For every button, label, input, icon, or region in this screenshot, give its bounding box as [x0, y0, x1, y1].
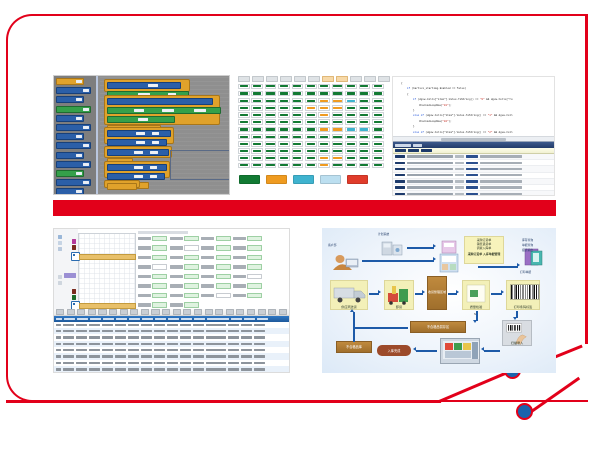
warehouse-location-cell[interactable] — [292, 119, 304, 125]
table-cell — [115, 330, 126, 332]
toolbar-button[interactable] — [268, 309, 276, 315]
warehouse-location-cell[interactable] — [359, 98, 371, 104]
toolbar-button[interactable] — [236, 309, 244, 315]
table-cell — [228, 368, 239, 370]
warehouse-location-cell[interactable] — [265, 127, 277, 133]
warehouse-location-cell[interactable] — [345, 112, 357, 118]
warehouse-location-status — [333, 157, 341, 159]
field-input[interactable] — [184, 245, 199, 251]
palette-block[interactable] — [56, 124, 91, 131]
warehouse-location-cell[interactable] — [278, 134, 290, 140]
warehouse-location-cell[interactable] — [372, 98, 384, 104]
warehouse-location-cell[interactable] — [359, 112, 371, 118]
field-input[interactable] — [152, 255, 167, 261]
warehouse-location-cell[interactable] — [305, 148, 317, 154]
warehouse-location-cell[interactable] — [305, 127, 317, 133]
warehouse-location-cell[interactable] — [251, 127, 263, 133]
warehouse-location-cell[interactable] — [359, 155, 371, 161]
field-input[interactable] — [152, 283, 167, 289]
palette-block[interactable] — [56, 142, 91, 149]
warehouse-location-cell[interactable] — [359, 84, 371, 90]
form-field[interactable] — [233, 236, 262, 242]
palette-block[interactable] — [56, 179, 91, 186]
toolbar-button[interactable] — [120, 309, 128, 315]
warehouse-location-cell[interactable] — [278, 155, 290, 161]
form-field[interactable] — [170, 245, 199, 251]
table-cell — [254, 368, 265, 370]
field-input[interactable] — [152, 274, 167, 280]
field-input[interactable] — [152, 245, 167, 251]
flow-node-truck: 供应商送货 — [330, 280, 368, 310]
form-field[interactable] — [233, 255, 262, 261]
toolbar-button[interactable] — [205, 309, 213, 315]
warehouse-location-cell[interactable] — [292, 155, 304, 161]
warehouse-location-cell[interactable] — [292, 141, 304, 147]
warehouse-location-cell[interactable] — [345, 155, 357, 161]
warehouse-location-cell[interactable] — [359, 105, 371, 111]
warehouse-location-cell[interactable] — [278, 112, 290, 118]
warehouse-location-cell[interactable] — [251, 84, 263, 90]
warehouse-location-cell[interactable] — [265, 163, 277, 169]
field-input[interactable] — [247, 293, 262, 299]
warehouse-location-cell[interactable] — [318, 98, 330, 104]
form-field[interactable] — [170, 264, 199, 270]
warehouse-location-cell[interactable] — [238, 112, 250, 118]
form-field[interactable] — [233, 274, 262, 280]
warehouse-location-cell[interactable] — [345, 134, 357, 140]
warehouse-location-cell[interactable] — [359, 127, 371, 133]
warehouse-location-cell[interactable] — [265, 148, 277, 154]
form-field[interactable] — [138, 293, 167, 299]
form-field[interactable] — [201, 255, 230, 261]
warehouse-location-cell[interactable] — [372, 119, 384, 125]
warehouse-column-header[interactable] — [238, 76, 250, 82]
block-group[interactable] — [104, 127, 174, 144]
toolbar-button[interactable] — [258, 309, 266, 315]
field-input[interactable] — [247, 264, 262, 270]
warehouse-location-cell[interactable] — [345, 91, 357, 97]
table-column-header[interactable] — [116, 318, 127, 320]
warehouse-location-cell[interactable] — [318, 91, 330, 97]
table-cell — [89, 336, 100, 338]
warehouse-location-cell[interactable] — [318, 119, 330, 125]
warehouse-location-cell[interactable] — [265, 119, 277, 125]
warehouse-column-header[interactable] — [350, 76, 362, 82]
table-row[interactable] — [54, 366, 289, 372]
field-input[interactable] — [216, 245, 231, 251]
warehouse-location-cell[interactable] — [292, 134, 304, 140]
warehouse-location-cell[interactable] — [292, 127, 304, 133]
warehouse-location-cell[interactable] — [372, 127, 384, 133]
table-column-header[interactable] — [244, 318, 255, 320]
form-field[interactable] — [233, 283, 262, 289]
form-field[interactable] — [201, 245, 230, 251]
warehouse-location-cell[interactable] — [292, 148, 304, 154]
warehouse-location-cell[interactable] — [251, 155, 263, 161]
warehouse-location-cell[interactable] — [345, 119, 357, 125]
field-input[interactable] — [216, 293, 231, 299]
toolbar-button[interactable] — [183, 309, 191, 315]
toolbar-button[interactable] — [56, 309, 64, 315]
warehouse-location-cell[interactable] — [251, 141, 263, 147]
warehouse-column-header[interactable] — [252, 76, 264, 82]
block-group[interactable] — [104, 180, 140, 188]
warehouse-column-header[interactable] — [294, 76, 306, 82]
form-field[interactable] — [233, 245, 262, 251]
toolbar-button[interactable] — [162, 309, 170, 315]
warehouse-location-status — [360, 107, 368, 109]
warehouse-column-header[interactable] — [336, 76, 348, 82]
scheduling-panel[interactable] — [53, 228, 290, 373]
warehouse-location-cell[interactable] — [345, 84, 357, 90]
warehouse-location-cell[interactable] — [318, 105, 330, 111]
warehouse-location-cell[interactable] — [345, 105, 357, 111]
toolbar-button[interactable] — [88, 309, 96, 315]
warehouse-location-cell[interactable] — [238, 141, 250, 147]
warehouse-location-cell[interactable] — [372, 112, 384, 118]
table-column-header[interactable] — [56, 318, 62, 320]
warehouse-location-cell[interactable] — [318, 112, 330, 118]
form-field[interactable] — [138, 274, 167, 280]
warehouse-location-cell[interactable] — [318, 148, 330, 154]
warehouse-location-cell[interactable] — [332, 105, 344, 111]
warehouse-location-cell[interactable] — [251, 105, 263, 111]
block-group[interactable] — [104, 146, 172, 158]
form-field[interactable] — [170, 283, 199, 289]
form-field[interactable] — [138, 264, 167, 270]
warehouse-location-cell[interactable] — [238, 134, 250, 140]
palette-block[interactable] — [56, 170, 84, 177]
warehouse-location-cell[interactable] — [278, 105, 290, 111]
palette-block[interactable] — [56, 106, 91, 113]
field-input[interactable] — [152, 302, 167, 308]
warehouse-location-cell[interactable] — [318, 163, 330, 169]
task-marker[interactable] — [72, 245, 76, 250]
field-input[interactable] — [216, 283, 231, 289]
warehouse-location-cell[interactable] — [305, 155, 317, 161]
code-editor-panel[interactable]: {if (bartxxx_startimg.Enabled == false){… — [392, 76, 555, 196]
warehouse-location-cell[interactable] — [359, 148, 371, 154]
warehouse-location-cell[interactable] — [265, 112, 277, 118]
field-label — [138, 237, 151, 240]
warehouse-location-cell[interactable] — [238, 105, 250, 111]
field-input[interactable] — [152, 236, 167, 242]
warehouse-location-cell[interactable] — [345, 163, 357, 169]
warehouse-location-cell[interactable] — [251, 119, 263, 125]
table-column-header[interactable] — [257, 318, 268, 320]
warehouse-location-status — [240, 150, 248, 152]
warehouse-location-cell[interactable] — [238, 98, 250, 104]
warehouse-location-cell[interactable] — [292, 91, 304, 97]
task-group-marker[interactable] — [64, 273, 76, 278]
task-marker[interactable] — [72, 289, 76, 294]
warehouse-location-cell[interactable] — [238, 91, 250, 97]
field-input[interactable] — [247, 274, 262, 280]
warehouse-location-cell[interactable] — [372, 91, 384, 97]
warehouse-grid-rows[interactable] — [238, 84, 390, 169]
table-column-header[interactable] — [194, 318, 205, 320]
warehouse-location-cell[interactable] — [251, 163, 263, 169]
table-cell — [63, 362, 74, 364]
warehouse-location-status — [266, 85, 274, 87]
toolbar-button[interactable] — [226, 309, 234, 315]
palette-block[interactable] — [56, 115, 84, 122]
warehouse-location-cell[interactable] — [238, 127, 250, 133]
form-field[interactable] — [201, 264, 230, 270]
block-group[interactable] — [104, 95, 220, 125]
warehouse-location-cell[interactable] — [359, 134, 371, 140]
task-marker[interactable] — [72, 295, 76, 300]
form-field[interactable] — [170, 293, 199, 299]
form-field[interactable] — [233, 293, 262, 299]
warehouse-location-cell[interactable] — [265, 105, 277, 111]
warehouse-location-cell[interactable] — [345, 148, 357, 154]
warehouse-column-header[interactable] — [378, 76, 390, 82]
warehouse-location-cell[interactable] — [332, 98, 344, 104]
warehouse-location-cell[interactable] — [305, 163, 317, 169]
field-input[interactable] — [247, 236, 262, 242]
warehouse-location-cell[interactable] — [238, 148, 250, 154]
table-column-header[interactable] — [231, 318, 242, 320]
form-field[interactable] — [138, 236, 167, 242]
field-input[interactable] — [184, 255, 199, 261]
field-input[interactable] — [216, 274, 231, 280]
palette-block[interactable] — [56, 87, 91, 94]
palette-block[interactable] — [56, 161, 91, 168]
field-input[interactable] — [247, 283, 262, 289]
warehouse-column-header[interactable] — [322, 76, 334, 82]
table-column-header[interactable] — [181, 318, 192, 320]
warehouse-location-status — [347, 136, 355, 138]
warehouse-location-cell[interactable] — [251, 112, 263, 118]
warehouse-location-cell[interactable] — [372, 134, 384, 140]
warehouse-location-cell[interactable] — [278, 127, 290, 133]
form-field[interactable] — [138, 255, 167, 261]
field-input[interactable] — [184, 264, 199, 270]
block-group[interactable] — [104, 161, 170, 178]
warehouse-location-cell[interactable] — [372, 148, 384, 154]
warehouse-location-cell[interactable] — [332, 91, 344, 97]
warehouse-location-cell[interactable] — [292, 112, 304, 118]
warehouse-location-cell[interactable] — [359, 119, 371, 125]
form-field[interactable] — [138, 245, 167, 251]
warehouse-location-cell[interactable] — [345, 98, 357, 104]
table-column-header[interactable] — [129, 318, 140, 320]
toolbar-button[interactable] — [194, 309, 202, 315]
warehouse-location-cell[interactable] — [265, 98, 277, 104]
warehouse-column-header[interactable] — [280, 76, 292, 82]
warehouse-location-status — [347, 150, 355, 152]
warehouse-location-cell[interactable] — [359, 163, 371, 169]
warehouse-location-cell[interactable] — [305, 84, 317, 90]
warehouse-location-cell[interactable] — [278, 141, 290, 147]
table-body[interactable] — [54, 322, 289, 373]
form-fields[interactable] — [138, 236, 287, 309]
warehouse-location-cell[interactable] — [265, 141, 277, 147]
warehouse-location-cell[interactable] — [251, 134, 263, 140]
warehouse-location-cell[interactable] — [305, 98, 317, 104]
block-group[interactable] — [104, 79, 190, 92]
warehouse-location-cell[interactable] — [238, 119, 250, 125]
warehouse-location-cell[interactable] — [251, 148, 263, 154]
order-data-table[interactable] — [54, 309, 289, 373]
warehouse-location-cell[interactable] — [318, 127, 330, 133]
toolbar-button[interactable] — [130, 309, 138, 315]
table-column-header[interactable] — [155, 318, 166, 320]
palette-block[interactable] — [56, 78, 84, 85]
warehouse-location-cell[interactable] — [332, 119, 344, 125]
warehouse-location-cell[interactable] — [345, 141, 357, 147]
form-field[interactable] — [201, 283, 230, 289]
form-field[interactable] — [170, 302, 199, 308]
blocks-canvas[interactable] — [100, 76, 229, 194]
toolbar-button[interactable] — [173, 309, 181, 315]
warehouse-location-cell[interactable] — [238, 84, 250, 90]
warehouse-location-cell[interactable] — [332, 148, 344, 154]
table-column-header[interactable] — [77, 318, 88, 320]
warehouse-location-cell[interactable] — [305, 141, 317, 147]
warehouse-location-cell[interactable] — [305, 91, 317, 97]
form-field[interactable] — [201, 236, 230, 242]
warehouse-location-cell[interactable] — [292, 105, 304, 111]
gantt-bar[interactable] — [79, 254, 136, 260]
form-field[interactable] — [170, 274, 199, 280]
toolbar-button[interactable] — [77, 309, 85, 315]
warehouse-location-cell[interactable] — [251, 98, 263, 104]
field-input[interactable] — [216, 255, 231, 261]
warehouse-location-cell[interactable] — [305, 119, 317, 125]
warehouse-location-cell[interactable] — [305, 105, 317, 111]
warehouse-location-cell[interactable] — [332, 163, 344, 169]
warehouse-location-cell[interactable] — [332, 134, 344, 140]
warehouse-location-cell[interactable] — [278, 148, 290, 154]
field-input[interactable] — [216, 236, 231, 242]
warehouse-location-cell[interactable] — [372, 155, 384, 161]
field-label — [138, 303, 151, 306]
toolbar-button[interactable] — [109, 309, 117, 315]
field-input[interactable] — [184, 302, 199, 308]
table-toolbar[interactable] — [54, 309, 289, 316]
field-input[interactable] — [216, 264, 231, 270]
field-input[interactable] — [184, 236, 199, 242]
field-input[interactable] — [247, 245, 262, 251]
form-field[interactable] — [138, 283, 167, 289]
warehouse-location-cell[interactable] — [238, 155, 250, 161]
blocks-editor-panel[interactable] — [53, 75, 230, 195]
table-column-header[interactable] — [103, 318, 114, 320]
warehouse-column-header[interactable] — [308, 76, 320, 82]
warehouse-column-header[interactable] — [364, 76, 376, 82]
code-text-area[interactable]: {if (bartxxx_startimg.Enabled == false){… — [393, 77, 554, 136]
warehouse-column-header[interactable] — [266, 76, 278, 82]
warehouse-location-cell[interactable] — [278, 119, 290, 125]
warehouse-location-cell[interactable] — [278, 91, 290, 97]
palette-block[interactable] — [56, 188, 84, 195]
warehouse-location-cell[interactable] — [265, 84, 277, 90]
table-column-header[interactable] — [168, 318, 179, 320]
field-input[interactable] — [184, 274, 199, 280]
toolbar-button[interactable] — [67, 309, 75, 315]
field-input[interactable] — [152, 293, 167, 299]
warehouse-location-cell[interactable] — [305, 134, 317, 140]
warehouse-location-cell[interactable] — [265, 134, 277, 140]
warehouse-location-cell[interactable] — [345, 127, 357, 133]
field-input[interactable] — [247, 255, 262, 261]
table-column-header[interactable] — [90, 318, 101, 320]
warehouse-location-cell[interactable] — [305, 112, 317, 118]
warehouse-location-cell[interactable] — [278, 163, 290, 169]
form-field[interactable] — [201, 293, 230, 299]
warehouse-location-cell[interactable] — [318, 155, 330, 161]
task-marker[interactable] — [72, 239, 76, 244]
warehouse-location-cell[interactable] — [359, 141, 371, 147]
warehouse-location-cell[interactable] — [265, 155, 277, 161]
warehouse-location-cell[interactable] — [359, 91, 371, 97]
palette-block[interactable] — [56, 133, 84, 140]
warehouse-location-cell[interactable] — [332, 112, 344, 118]
flow-arrow-head — [513, 317, 517, 320]
warehouse-location-cell[interactable] — [278, 98, 290, 104]
warehouse-location-cell[interactable] — [372, 105, 384, 111]
form-field[interactable] — [170, 236, 199, 242]
warehouse-location-cell[interactable] — [278, 84, 290, 90]
warehouse-location-cell[interactable] — [318, 134, 330, 140]
palette-block[interactable] — [56, 152, 84, 159]
form-field[interactable] — [170, 255, 199, 261]
warehouse-location-cell[interactable] — [251, 91, 263, 97]
toolbar-button[interactable] — [98, 309, 106, 315]
toolbar-button[interactable] — [215, 309, 223, 315]
console-log-panel[interactable] — [393, 141, 554, 195]
toolbar-button[interactable] — [141, 309, 149, 315]
table-column-header[interactable] — [64, 318, 75, 320]
warehouse-location-cell[interactable] — [292, 84, 304, 90]
warehouse-location-cell[interactable] — [372, 141, 384, 147]
form-field[interactable] — [138, 302, 167, 308]
table-column-header[interactable] — [142, 318, 153, 320]
warehouse-location-cell[interactable] — [265, 91, 277, 97]
log-rows[interactable] — [393, 154, 554, 196]
warehouse-location-cell[interactable] — [292, 98, 304, 104]
log-row[interactable] — [393, 191, 554, 196]
toolbar-button[interactable] — [279, 309, 287, 315]
warehouse-location-cell[interactable] — [332, 127, 344, 133]
form-field[interactable] — [201, 274, 230, 280]
field-input[interactable] — [184, 283, 199, 289]
warehouse-location-cell[interactable] — [372, 84, 384, 90]
warehouse-location-cell[interactable] — [372, 163, 384, 169]
table-cell — [141, 343, 152, 345]
table-cell — [180, 355, 191, 357]
warehouse-grid-panel[interactable] — [238, 76, 390, 196]
palette-block[interactable] — [56, 96, 84, 103]
warehouse-location-cell[interactable] — [238, 163, 250, 169]
warehouse-location-cell[interactable] — [292, 163, 304, 169]
field-input[interactable] — [152, 264, 167, 270]
warehouse-location-cell[interactable] — [318, 84, 330, 90]
warehouse-location-cell[interactable] — [332, 155, 344, 161]
blocks-palette[interactable] — [54, 76, 98, 194]
table-column-header[interactable] — [207, 318, 229, 320]
form-field[interactable] — [233, 264, 262, 270]
table-cell — [115, 362, 126, 364]
toolbar-button[interactable] — [247, 309, 255, 315]
warehouse-location-cell[interactable] — [332, 141, 344, 147]
toolbar-button[interactable] — [151, 309, 159, 315]
field-input[interactable] — [184, 293, 199, 299]
warehouse-location-cell[interactable] — [332, 84, 344, 90]
warehouse-location-cell[interactable] — [318, 141, 330, 147]
